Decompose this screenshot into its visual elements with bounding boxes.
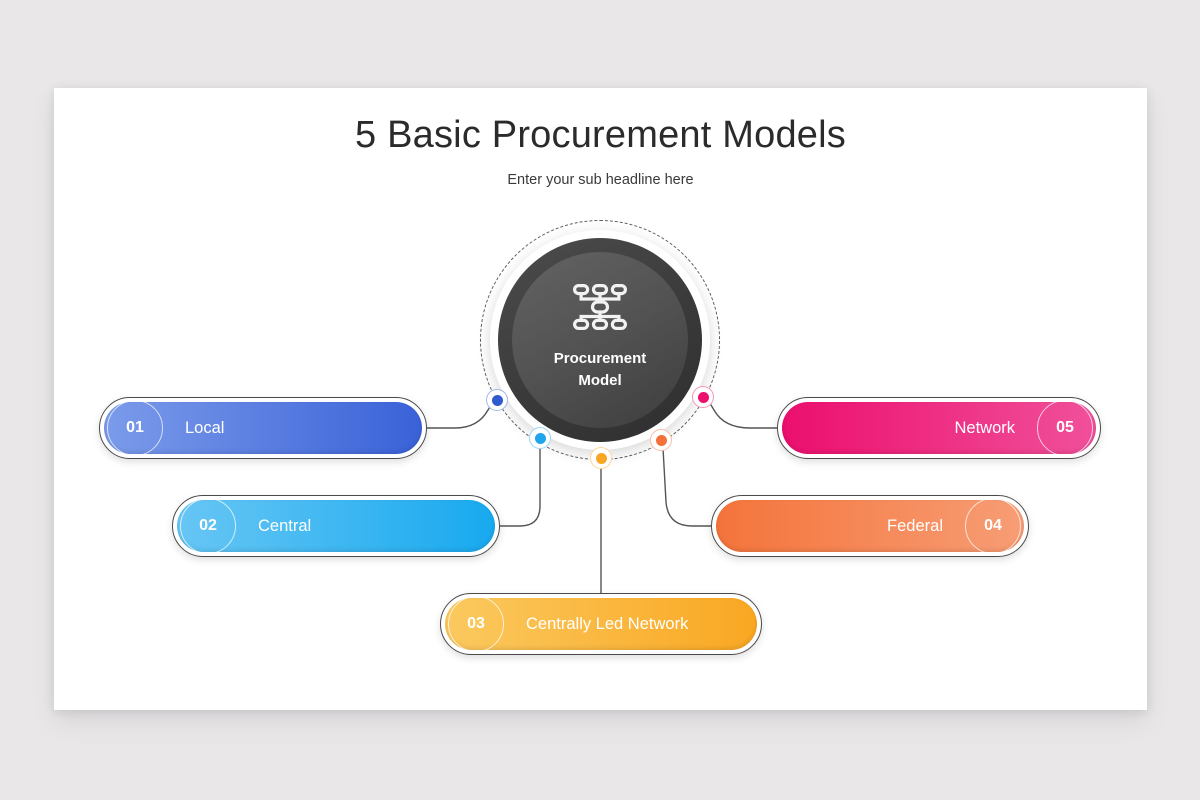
page-subtitle: Enter your sub headline here — [54, 172, 1147, 188]
item-pill-02[interactable]: 02 Central — [172, 495, 500, 557]
connector-dot-04 — [650, 429, 672, 451]
item-label-03: Centrally Led Network — [526, 615, 688, 634]
item-number-04: 04 — [965, 498, 1021, 554]
item-pill-03[interactable]: 03 Centrally Led Network — [440, 593, 762, 655]
connector-dot-03 — [590, 447, 612, 469]
item-pill-01-fill: 01 Local — [104, 402, 422, 454]
item-label-04: Federal — [887, 517, 943, 536]
item-number-05: 05 — [1037, 400, 1093, 456]
item-label-01: Local — [185, 419, 224, 438]
item-label-05: Network — [954, 419, 1015, 438]
hub-label-line1: Procurement — [554, 350, 647, 367]
item-number-03: 03 — [448, 596, 504, 652]
item-pill-01[interactable]: 01 Local — [99, 397, 427, 459]
page-title: 5 Basic Procurement Models — [54, 114, 1147, 157]
hierarchy-network-icon — [572, 283, 628, 336]
hub-label-line2: Model — [578, 372, 621, 389]
hub[interactable]: Procurement Model — [480, 220, 720, 460]
hub-label: Procurement Model — [554, 348, 647, 391]
item-pill-04-fill: Federal 04 — [716, 500, 1024, 552]
item-number-02: 02 — [180, 498, 236, 554]
connector-dot-02 — [529, 427, 551, 449]
item-pill-03-fill: 03 Centrally Led Network — [445, 598, 757, 650]
item-pill-05[interactable]: Network 05 — [777, 397, 1101, 459]
item-pill-04[interactable]: Federal 04 — [711, 495, 1029, 557]
slide-stage: 5 Basic Procurement Models Enter your su… — [0, 0, 1200, 800]
item-number-01: 01 — [107, 400, 163, 456]
connector-dot-01 — [486, 389, 508, 411]
item-pill-05-fill: Network 05 — [782, 402, 1096, 454]
item-label-02: Central — [258, 517, 311, 536]
hub-inner-disc: Procurement Model — [512, 252, 688, 428]
connector-dot-05 — [692, 386, 714, 408]
item-pill-02-fill: 02 Central — [177, 500, 495, 552]
